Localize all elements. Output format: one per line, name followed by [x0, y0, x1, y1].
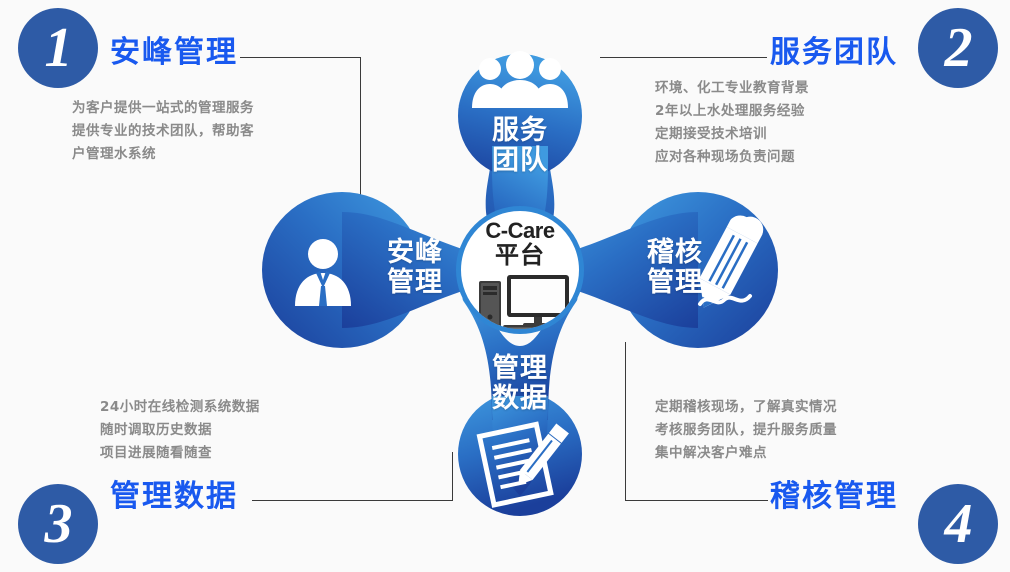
section-2-line-3: 定期接受技术培训: [655, 123, 809, 146]
section-1-line-2: 提供专业的技术团队，帮助客: [72, 120, 254, 143]
section-title-1: 安峰管理: [110, 27, 238, 71]
section-title-4: 稽核管理: [770, 471, 898, 515]
petal-management-data-label: 管理 数据: [430, 354, 610, 414]
section-badge-2: 2: [918, 8, 998, 88]
section-badge-3-number: 3: [45, 496, 72, 552]
section-4-line-3: 集中解决客户难点: [655, 442, 837, 465]
connector-line-1-horizontal: [240, 57, 361, 58]
section-body-4: 定期稽核现场，了解真实情况 考核服务团队，提升服务质量 集中解决客户难点: [655, 396, 837, 465]
section-3-line-2: 随时调取历史数据: [100, 419, 260, 442]
petal-label-line1: 安峰: [387, 237, 443, 268]
section-body-1: 为客户提供一站式的管理服务 提供专业的技术团队，帮助客 户管理水系统: [72, 97, 254, 166]
section-4-line-2: 考核服务团队，提升服务质量: [655, 419, 837, 442]
section-2-line-4: 应对各种现场负责问题: [655, 146, 809, 169]
connector-line-4-horizontal: [625, 500, 768, 501]
section-title-3: 管理数据: [110, 471, 238, 515]
desktop-computer-icon: [477, 273, 573, 334]
petal-service-team-label: 服务 团队: [430, 116, 610, 176]
section-title-2: 服务团队: [770, 27, 898, 71]
document-pencil-icon: [480, 420, 566, 506]
petal-label-line1: 管理: [492, 353, 548, 384]
connector-line-4-vertical: [625, 342, 626, 501]
section-2-line-1: 环境、化工专业教育背景: [655, 77, 809, 100]
section-4-line-1: 定期稽核现场，了解真实情况: [655, 396, 837, 419]
section-badge-3: 3: [18, 484, 98, 564]
petal-label-line2: 数据: [492, 383, 548, 414]
section-badge-4-number: 4: [945, 496, 972, 552]
petal-label-line2: 管理: [387, 267, 443, 298]
section-1-line-3: 户管理水系统: [72, 143, 254, 166]
section-body-2: 环境、化工专业教育背景 2年以上水处理服务经验 定期接受技术培训 应对各种现场负…: [655, 77, 809, 169]
pencil-icon: [694, 212, 772, 324]
section-3-line-1: 24小时在线检测系统数据: [100, 396, 260, 419]
hub-text: C-Care 平台: [461, 219, 579, 268]
section-badge-1-number: 1: [45, 20, 72, 76]
section-1-line-1: 为客户提供一站式的管理服务: [72, 97, 254, 120]
hub-title-line1: C-Care: [461, 219, 579, 242]
center-hub-c-care-platform[interactable]: C-Care 平台: [456, 206, 584, 334]
section-badge-1: 1: [18, 8, 98, 88]
hub-title-line2: 平台: [461, 242, 579, 268]
section-badge-2-number: 2: [945, 20, 972, 76]
section-body-3: 24小时在线检测系统数据 随时调取历史数据 项目进展随看随查: [100, 396, 260, 465]
petal-label-line1: 服务: [492, 115, 548, 146]
section-2-line-2: 2年以上水处理服务经验: [655, 100, 809, 123]
section-badge-4: 4: [918, 484, 998, 564]
petal-anfeng-management-label: 安峰 管理: [360, 238, 470, 298]
infographic-canvas: 服务 团队 安峰 管理 稽核 管理: [0, 0, 1010, 572]
connector-line-2-horizontal: [600, 57, 767, 58]
section-3-line-3: 项目进展随看随查: [100, 442, 260, 465]
businessman-icon: [292, 236, 354, 306]
connector-line-3-horizontal: [252, 500, 452, 501]
petal-label-line2: 团队: [492, 145, 548, 176]
people-group-icon: [468, 52, 572, 108]
